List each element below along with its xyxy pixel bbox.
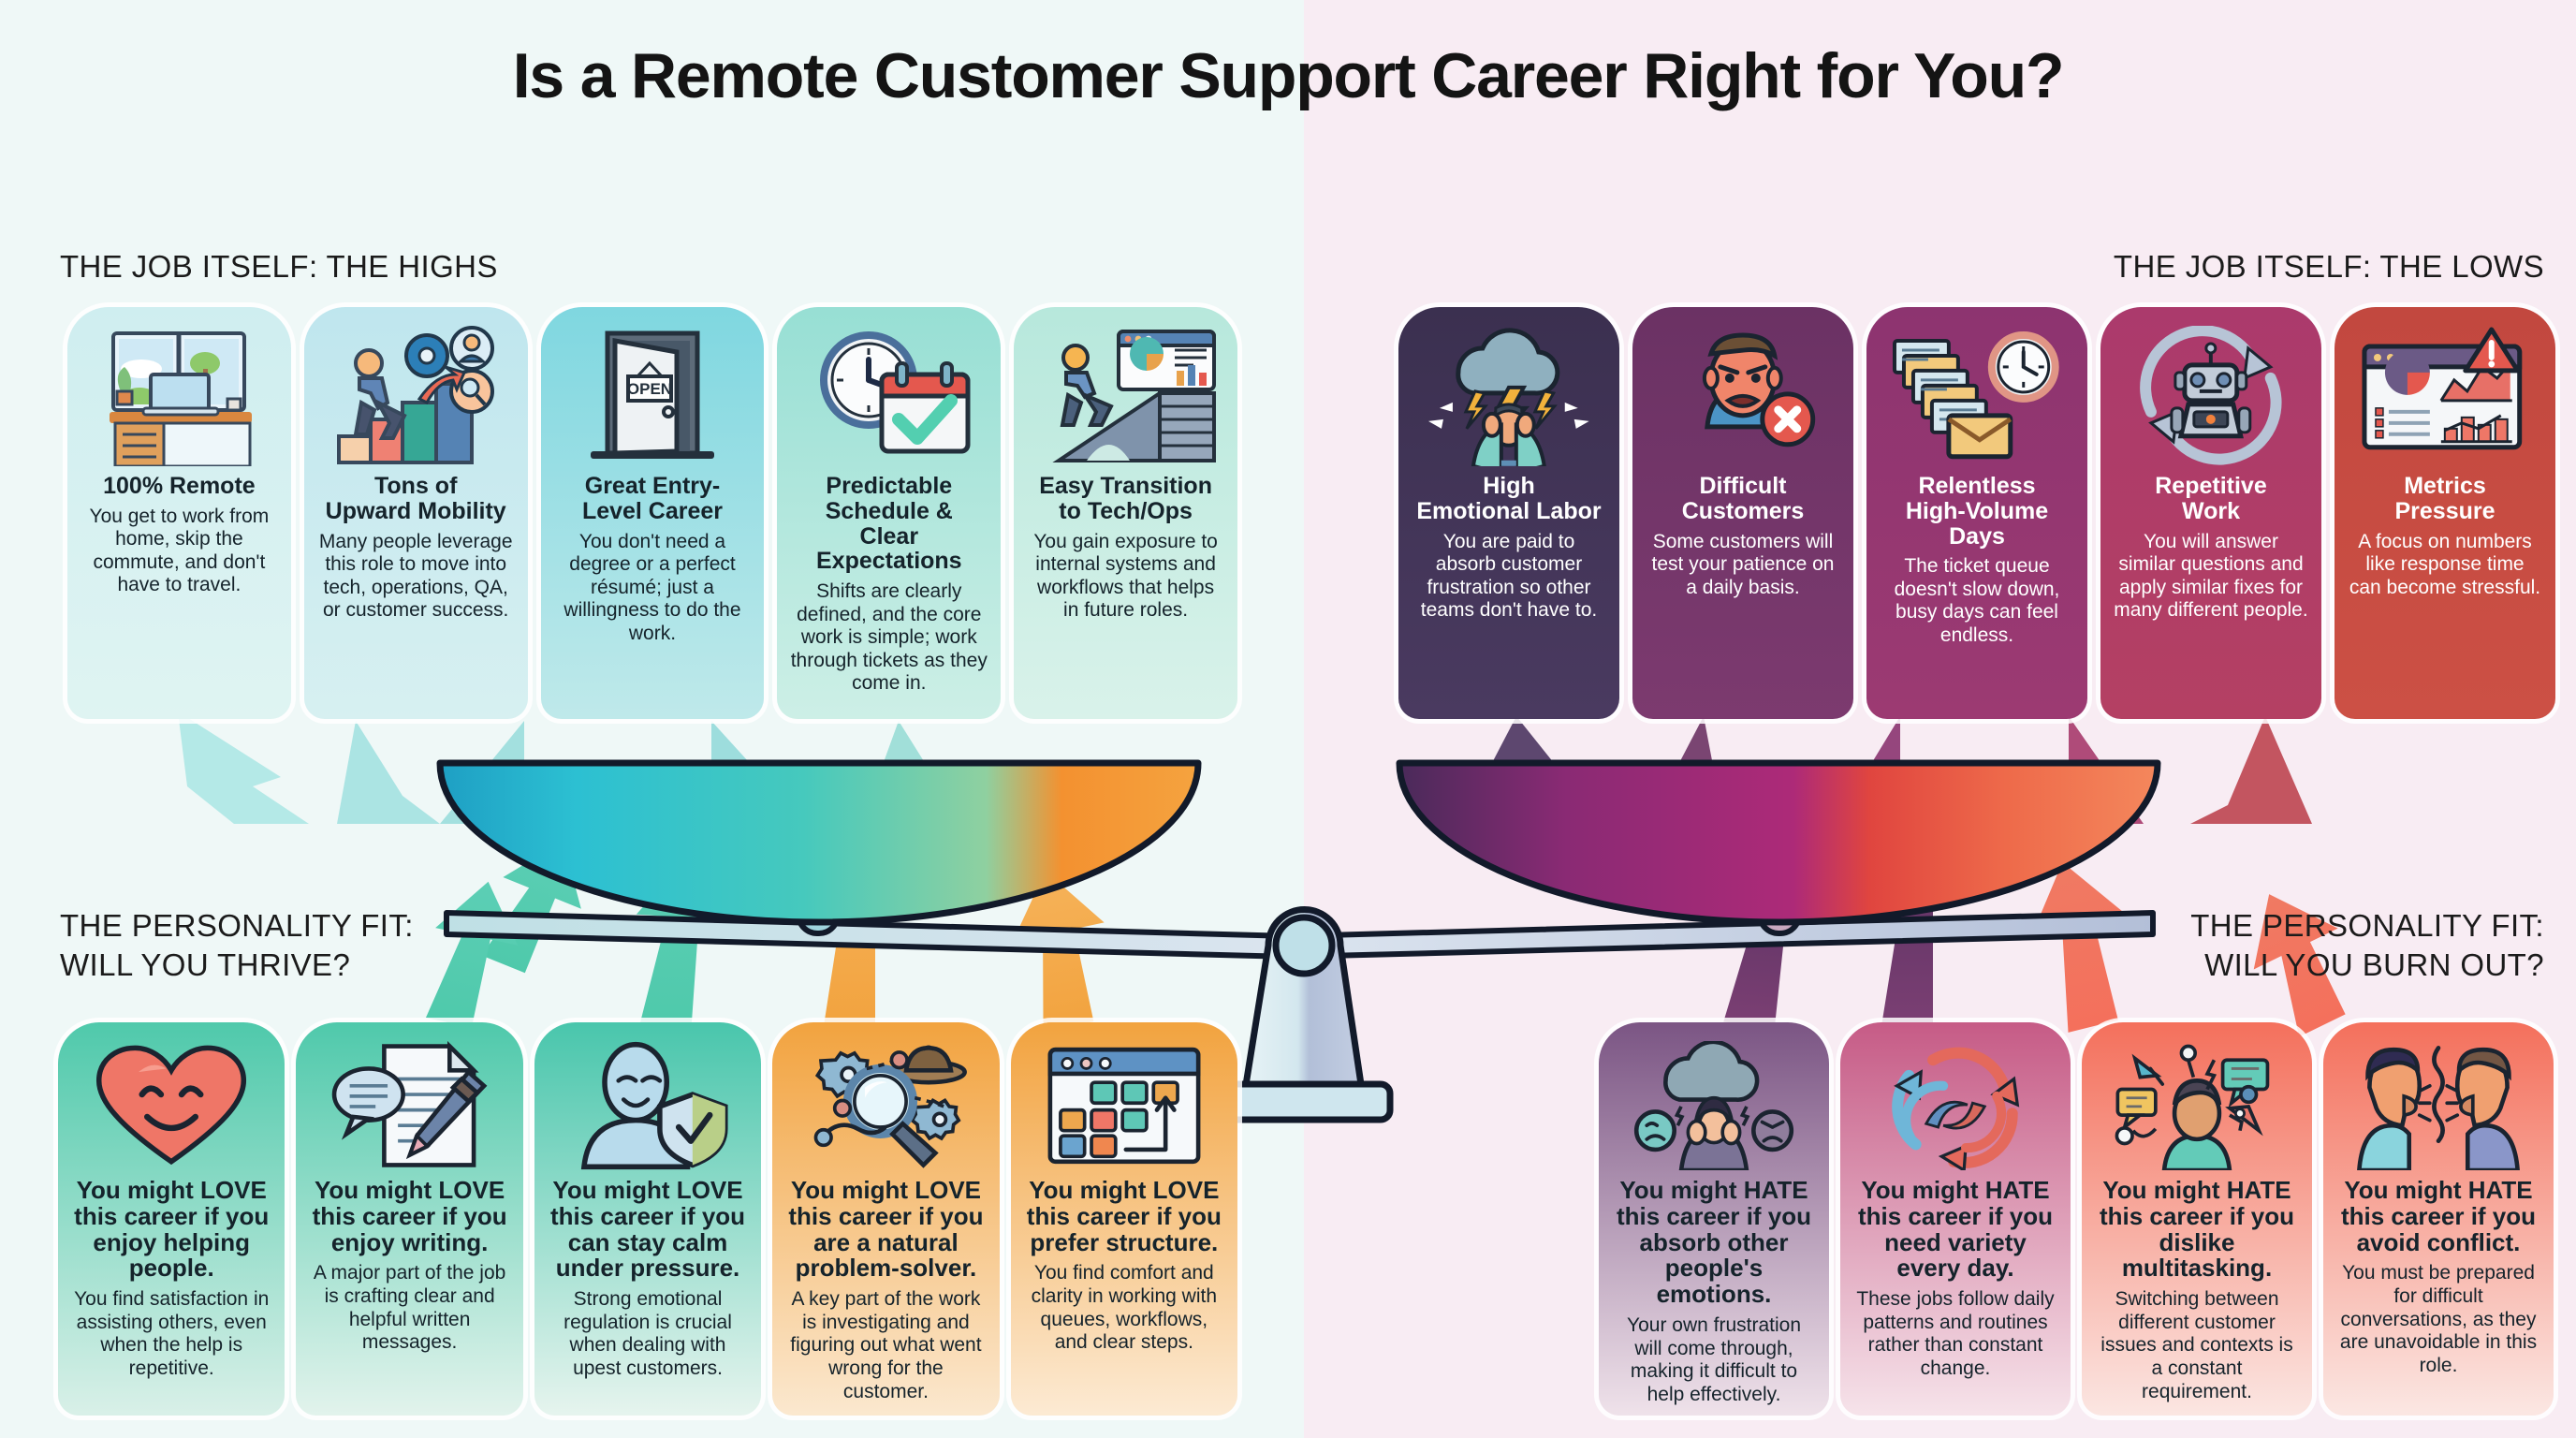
cycle-arrows-routine-icon	[1853, 1041, 2057, 1170]
svg-text:OPEN: OPEN	[627, 380, 672, 398]
card-hate-conflict[interactable]: You might HATE this career if you avoid …	[2323, 1022, 2554, 1416]
card-body: You must be prepared for difficult conve…	[2336, 1262, 2540, 1377]
rain-cloud-sad-faces-icon	[1612, 1041, 1816, 1170]
open-door-icon: OPEN	[554, 326, 752, 466]
section-heading-lows: THE JOB ITSELF: THE LOWS	[2114, 247, 2544, 286]
card-title: Easy Transition to Tech/Ops	[1039, 474, 1212, 524]
card-title: You might LOVE this career if you are a …	[785, 1178, 986, 1282]
card-high-emotional-labor[interactable]: High Emotional Labor You are paid to abs…	[1398, 307, 1619, 719]
career-ladder-growth-icon	[317, 326, 515, 466]
kanban-board-icon	[1024, 1041, 1224, 1170]
robot-loop-icon	[2114, 326, 2308, 466]
card-body: You find comfort and clarity in working …	[1024, 1262, 1224, 1354]
ticket-queue-clock-icon	[1880, 326, 2074, 466]
card-title: High Emotional Labor	[1416, 474, 1601, 524]
card-body: Switching between different customer iss…	[2095, 1288, 2299, 1403]
card-title: You might LOVE this career if you enjoy …	[71, 1178, 271, 1282]
card-body: These jobs follow daily patterns and rou…	[1853, 1288, 2057, 1380]
card-title: Great Entry- Level Career	[582, 474, 723, 524]
burnout-card-row: You might HATE this career if you absorb…	[1599, 1022, 2554, 1416]
card-hate-no-variety[interactable]: You might HATE this career if you need v…	[1840, 1022, 2071, 1416]
card-predictable-schedule[interactable]: Predictable Schedule & Clear Expectation…	[777, 307, 1001, 719]
card-love-writing[interactable]: You might LOVE this career if you enjoy …	[296, 1022, 522, 1416]
card-title: Tons of Upward Mobility	[326, 474, 506, 524]
magnifier-gears-detective-icon	[785, 1041, 986, 1170]
card-body: A focus on numbers like response time ca…	[2348, 531, 2542, 600]
card-title: You might LOVE this career if you enjoy …	[309, 1178, 509, 1255]
card-body: Your own frustration will come through, …	[1612, 1314, 1816, 1406]
calm-person-shield-icon	[548, 1041, 748, 1170]
card-repetitive-work[interactable]: Repetitive Work You will answer similar …	[2100, 307, 2321, 719]
card-body: Shifts are clearly defined, and the core…	[790, 580, 988, 696]
card-title: You might HATE this career if you dislik…	[2095, 1178, 2299, 1282]
card-metrics-pressure[interactable]: Metrics Pressure A focus on numbers like…	[2334, 307, 2555, 719]
card-100-percent-remote[interactable]: 100% Remote You get to work from home, s…	[67, 307, 291, 719]
card-difficult-customers[interactable]: Difficult Customers Some customers will …	[1632, 307, 1853, 719]
card-body: Many people leverage this role to move i…	[317, 531, 515, 623]
card-body: You find satisfaction in assisting other…	[71, 1288, 271, 1380]
card-title: Difficult Customers	[1682, 474, 1805, 524]
card-title: You might HATE this career if you need v…	[1853, 1178, 2057, 1282]
highs-card-row: 100% Remote You get to work from home, s…	[67, 307, 1237, 719]
smiling-heart-icon	[71, 1041, 271, 1170]
card-title: Relentless High-Volume Days	[1880, 474, 2074, 549]
card-body: The ticket queue doesn't slow down, busy…	[1880, 555, 2074, 647]
card-high-volume-days[interactable]: Relentless High-Volume Days The ticket q…	[1866, 307, 2087, 719]
card-body: You get to work from home, skip the comm…	[80, 506, 278, 597]
card-title: Repetitive Work	[2155, 474, 2266, 524]
home-desk-window-icon	[80, 326, 278, 466]
clock-calendar-check-icon	[790, 326, 988, 466]
card-body: A major part of the job is crafting clea…	[309, 1262, 509, 1354]
card-love-calm-under-pressure[interactable]: You might LOVE this career if you can st…	[534, 1022, 761, 1416]
card-hate-absorbing-emotions[interactable]: You might HATE this career if you absorb…	[1599, 1022, 1829, 1416]
card-body: You gain exposure to internal systems an…	[1027, 531, 1224, 623]
card-body: You will answer similar questions and ap…	[2114, 531, 2308, 623]
document-pen-chat-icon	[309, 1041, 509, 1170]
card-love-structure[interactable]: You might LOVE this career if you prefer…	[1011, 1022, 1237, 1416]
stairs-dashboard-server-icon	[1027, 326, 1224, 466]
thrive-card-row: You might LOVE this career if you enjoy …	[58, 1022, 1237, 1416]
section-heading-burnout: THE PERSONALITY FIT: WILL YOU BURN OUT?	[2190, 906, 2544, 985]
card-entry-level-career[interactable]: OPEN Great Entry- Level Career You don't…	[541, 307, 765, 719]
card-body: You are paid to absorb customer frustrat…	[1412, 531, 1606, 623]
two-people-arguing-icon	[2336, 1041, 2540, 1170]
card-title: Metrics Pressure	[2394, 474, 2495, 524]
card-body: Some customers will test your patience o…	[1646, 531, 1840, 600]
card-body: A key part of the work is investigating …	[785, 1288, 986, 1403]
multitasking-overload-icon	[2095, 1041, 2299, 1170]
card-love-problem-solving[interactable]: You might LOVE this career if you are a …	[772, 1022, 999, 1416]
angry-customer-icon	[1646, 326, 1840, 466]
card-upward-mobility[interactable]: Tons of Upward Mobility Many people leve…	[304, 307, 528, 719]
storm-cloud-stressed-person-icon	[1412, 326, 1606, 466]
lows-card-row: High Emotional Labor You are paid to abs…	[1398, 307, 2555, 719]
card-title: Predictable Schedule & Clear Expectation…	[790, 474, 988, 574]
card-body: Strong emotional regulation is crucial w…	[548, 1288, 748, 1380]
page-title: Is a Remote Customer Support Career Righ…	[0, 39, 2576, 112]
card-title: You might HATE this career if you absorb…	[1612, 1178, 1816, 1308]
metrics-dashboard-alert-icon	[2348, 326, 2542, 466]
card-body: You don't need a degree or a perfect rés…	[554, 531, 752, 646]
card-title: You might LOVE this career if you prefer…	[1024, 1178, 1224, 1255]
card-title: You might HATE this career if you avoid …	[2336, 1178, 2540, 1255]
section-heading-thrive: THE PERSONALITY FIT: WILL YOU THRIVE?	[60, 906, 414, 985]
card-title: 100% Remote	[103, 474, 256, 499]
section-heading-highs: THE JOB ITSELF: THE HIGHS	[60, 247, 498, 286]
card-title: You might LOVE this career if you can st…	[548, 1178, 748, 1282]
card-love-helping-people[interactable]: You might LOVE this career if you enjoy …	[58, 1022, 285, 1416]
card-transition-to-tech-ops[interactable]: Easy Transition to Tech/Ops You gain exp…	[1014, 307, 1237, 719]
card-hate-multitasking[interactable]: You might HATE this career if you dislik…	[2082, 1022, 2312, 1416]
